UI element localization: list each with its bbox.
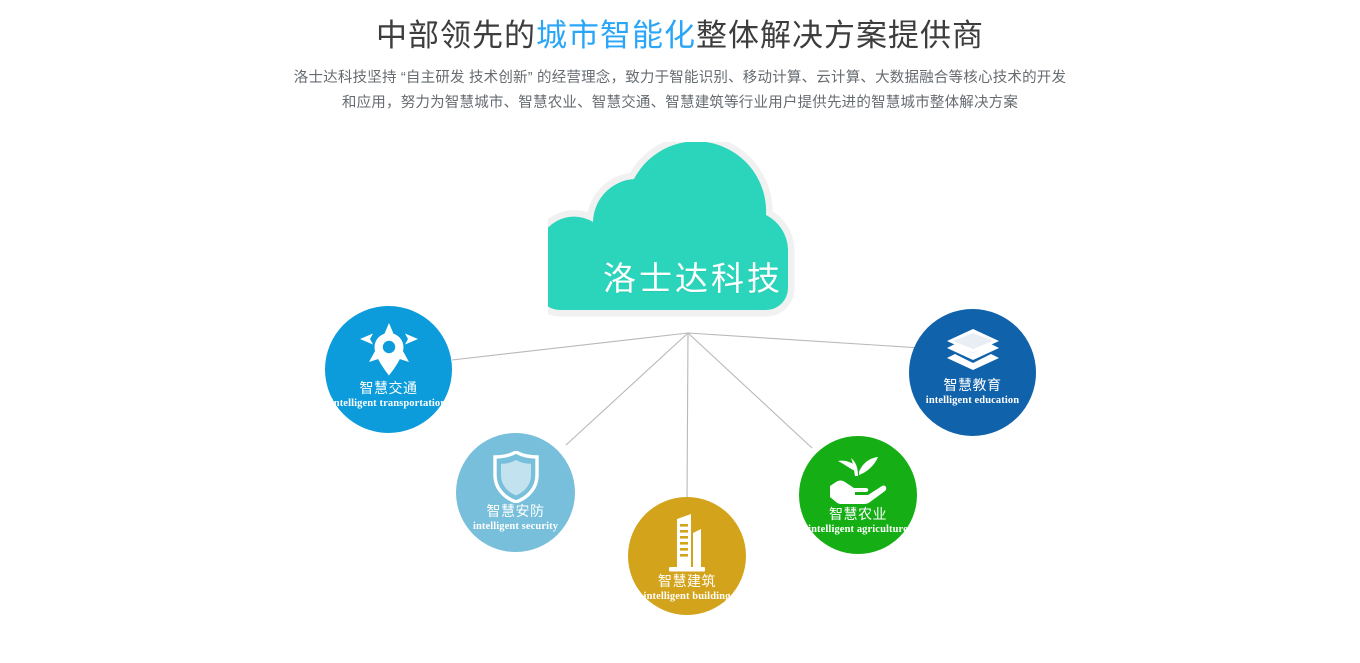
page-header: 中部领先的城市智能化整体解决方案提供商 洛士达科技坚持 “自主研发 技术创新” … [0, 0, 1360, 116]
node-intelligent-security[interactable]: 智慧安防 intelligent security [456, 433, 575, 552]
center-cloud-label: 洛士达科技 [548, 252, 838, 300]
page-subtitle: 洛士达科技坚持 “自主研发 技术创新” 的经营理念，致力于智能识别、移动计算、云… [285, 66, 1075, 116]
page-root: 中部领先的城市智能化整体解决方案提供商 洛士达科技坚持 “自主研发 技术创新” … [0, 0, 1360, 663]
center-cloud[interactable]: 洛士达科技 [548, 142, 838, 342]
pin-center-dot [382, 341, 394, 353]
node-intelligent-transportation[interactable]: 智慧交通 intelligent transportation [325, 306, 452, 433]
node-label-cn: 智慧教育 [944, 377, 1002, 394]
node-label-en: intelligent building [644, 590, 731, 604]
node-label-cn: 智慧安防 [487, 503, 545, 520]
stacked-books-icon [945, 327, 1001, 377]
node-label-en: intelligent education [926, 394, 1019, 408]
node-label-en: intelligent transportation [331, 397, 446, 411]
subtitle-line-2: 和应用，努力为智慧城市、智慧农业、智慧交通、智慧建筑等行业用户提供先进的智慧城市… [342, 95, 1018, 111]
connector-line-security [566, 333, 688, 445]
shield-icon [493, 451, 539, 503]
subtitle-line-1: 洛士达科技坚持 “自主研发 技术创新” 的经营理念，致力于智能识别、移动计算、云… [294, 70, 1066, 86]
node-intelligent-education[interactable]: 智慧教育 intelligent education [909, 309, 1036, 436]
page-title: 中部领先的城市智能化整体解决方案提供商 [0, 0, 1360, 58]
node-intelligent-building[interactable]: 智慧建筑 intelligent building [628, 497, 746, 615]
shield-inner [501, 460, 531, 496]
node-label-en: intelligent security [473, 520, 558, 534]
title-prefix: 中部领先的 [376, 18, 536, 53]
node-label-cn: 智慧交通 [360, 380, 418, 397]
hand-holding-sprout-icon [828, 452, 888, 506]
title-highlight: 城市智能化 [536, 18, 696, 53]
node-intelligent-agriculture[interactable]: 智慧农业 intelligent agriculture [799, 436, 917, 554]
title-suffix: 整体解决方案提供商 [696, 18, 984, 53]
connector-line-building [687, 333, 688, 501]
node-label-cn: 智慧建筑 [658, 573, 716, 590]
office-building-icon [661, 513, 713, 573]
cloud-shape-icon [548, 142, 838, 342]
node-label-en: intelligent agriculture [808, 523, 908, 537]
solution-diagram: 洛士达科技 智慧交通 intelligent transportation [0, 126, 1360, 663]
node-label-cn: 智慧农业 [829, 506, 887, 523]
location-pin-compass-icon [359, 322, 419, 380]
connector-line-agriculture [688, 333, 812, 448]
